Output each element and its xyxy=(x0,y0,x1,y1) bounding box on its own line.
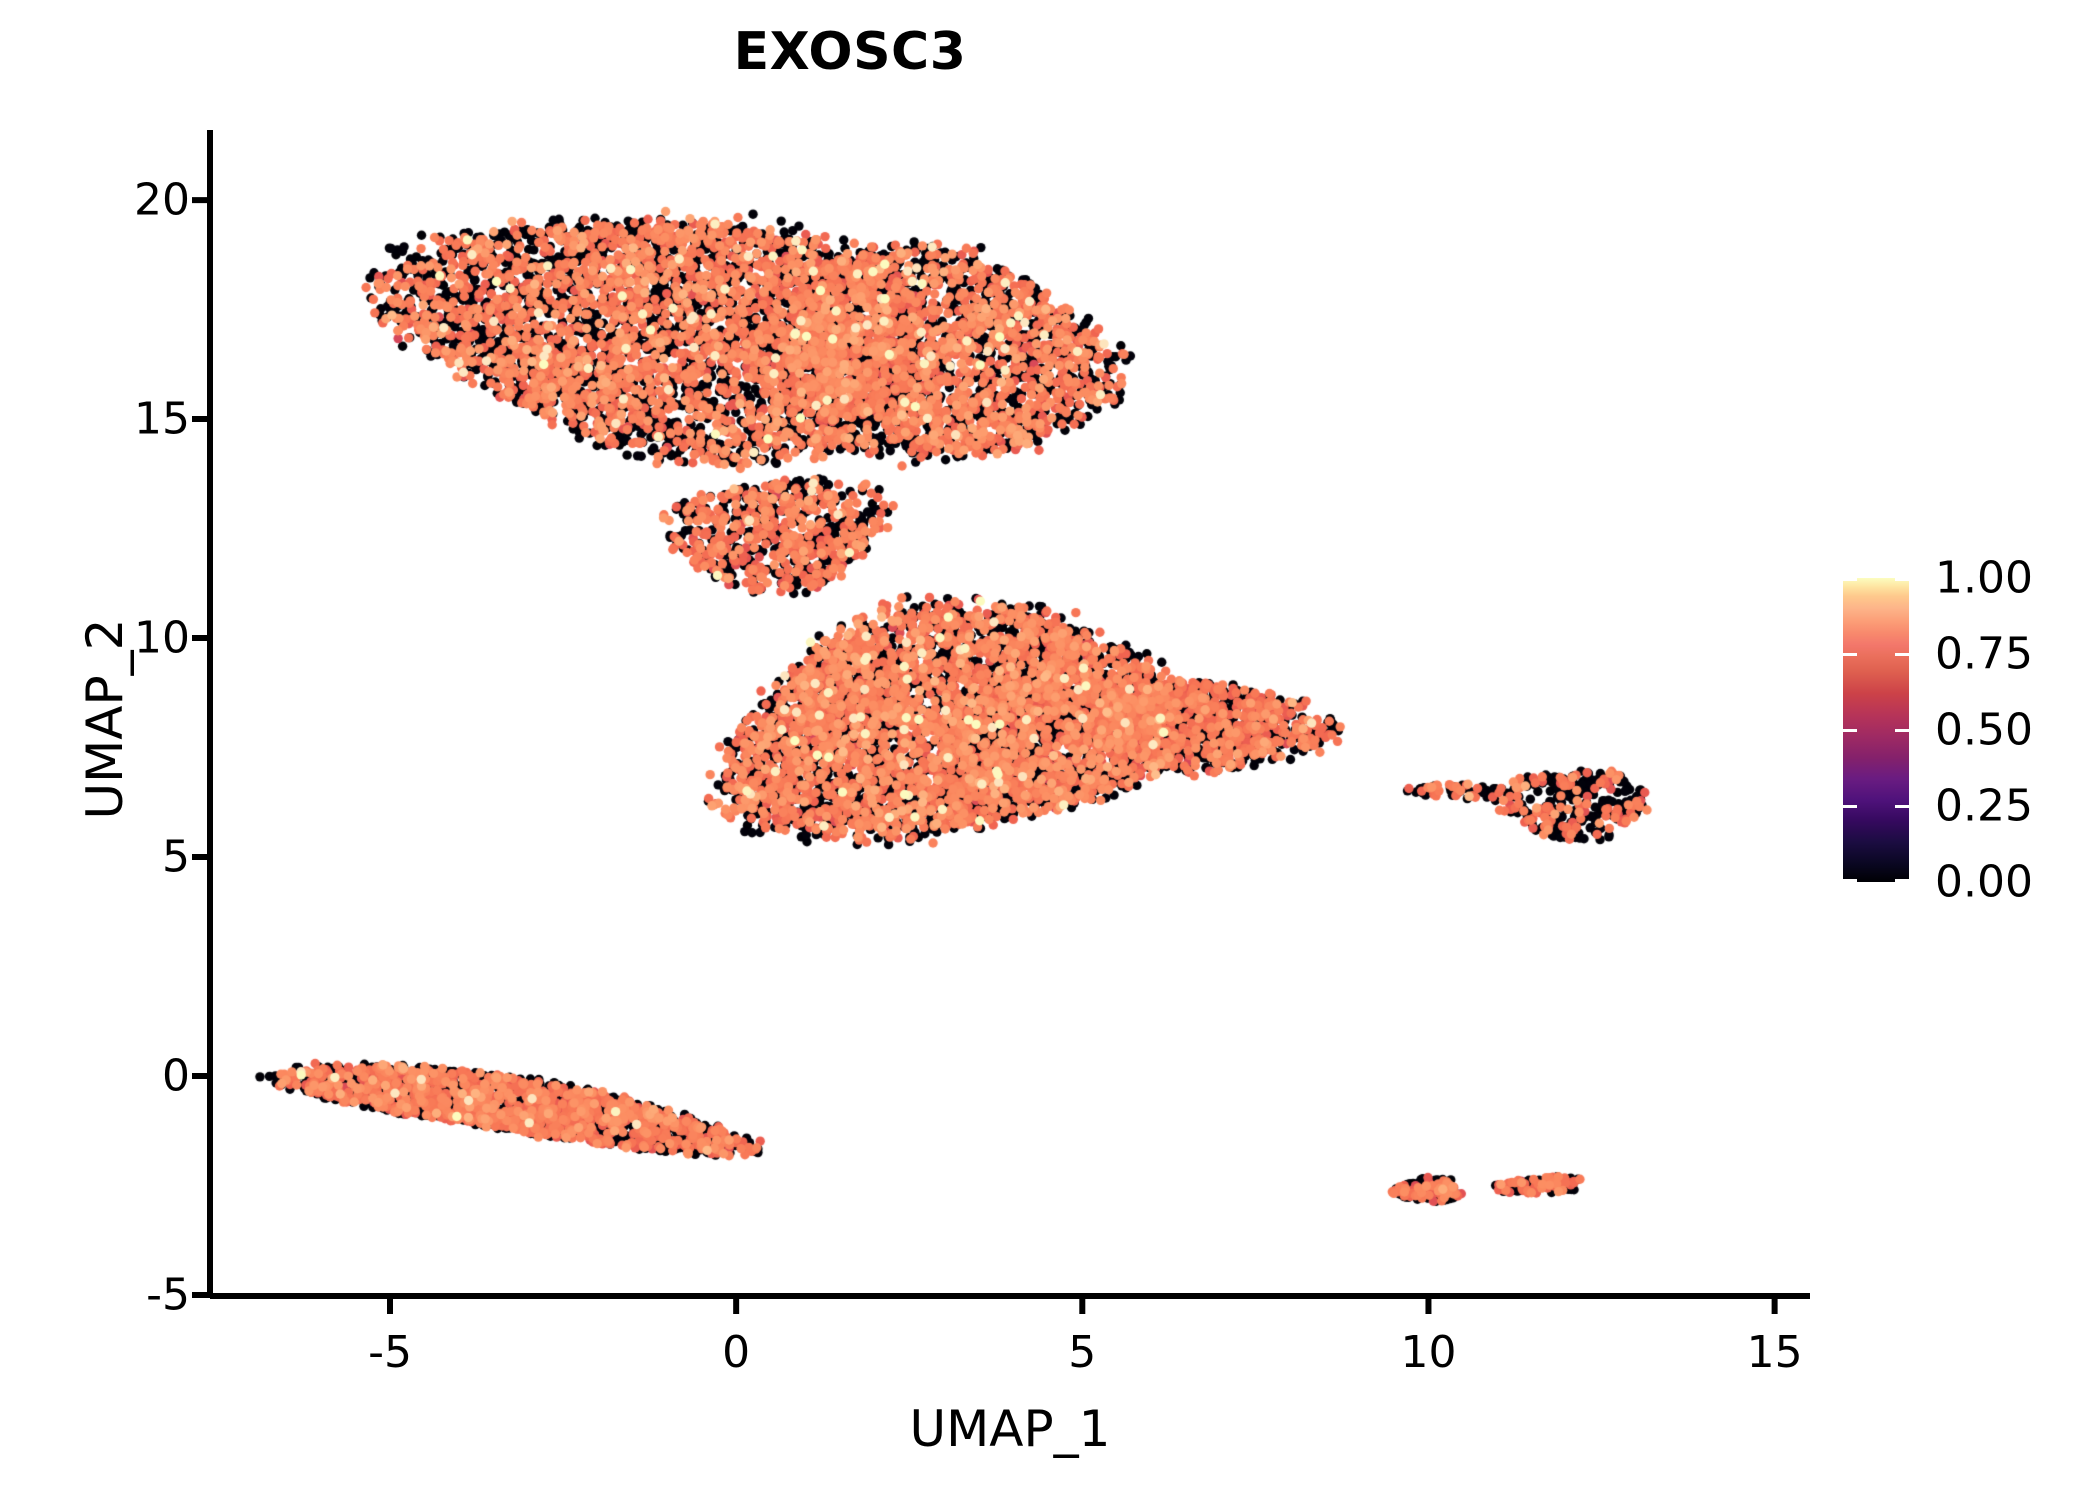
colorbar-tick-mark xyxy=(1895,578,1909,581)
colorbar-tick-label: 0.00 xyxy=(1935,857,2033,908)
colorbar-tick-mark xyxy=(1895,805,1909,808)
x-axis-title: UMAP_1 xyxy=(210,1400,1810,1458)
colorbar-tick-label: 1.00 xyxy=(1935,553,2033,604)
y-tick-label: -5 xyxy=(50,1270,190,1321)
x-tick-marks xyxy=(390,1296,1775,1314)
figure-root: EXOSC3 20151050-5 -5051015 UMAP_1 UMAP_2… xyxy=(0,0,2100,1500)
colorbar-tick-mark xyxy=(1843,879,1857,882)
colorbar-tick-mark xyxy=(1843,653,1857,656)
x-tick-label: 10 xyxy=(1400,1327,1456,1378)
colorbar-tick-mark xyxy=(1895,879,1909,882)
colorbar-tick-mark xyxy=(1895,729,1909,732)
umap-scatter-plot xyxy=(210,130,1830,1295)
x-tick-label: 0 xyxy=(722,1327,750,1378)
y-axis-title: UMAP_2 xyxy=(76,369,134,1069)
colorbar-tick-label: 0.75 xyxy=(1935,629,2033,680)
colorbar xyxy=(1843,578,1909,882)
x-tick-label: -5 xyxy=(368,1327,412,1378)
page-title: EXOSC3 xyxy=(0,22,1700,82)
x-tick-label: 15 xyxy=(1747,1327,1803,1378)
y-tick-label: 20 xyxy=(50,175,190,226)
colorbar-tick-label: 0.50 xyxy=(1935,705,2033,756)
colorbar-tick-mark xyxy=(1895,653,1909,656)
colorbar-tick-label: 0.25 xyxy=(1935,781,2033,832)
colorbar-tick-mark xyxy=(1843,729,1857,732)
y-tick-marks xyxy=(192,200,210,1295)
colorbar-tick-mark xyxy=(1843,578,1857,581)
colorbar-tick-mark xyxy=(1843,805,1857,808)
x-tick-label: 5 xyxy=(1068,1327,1096,1378)
